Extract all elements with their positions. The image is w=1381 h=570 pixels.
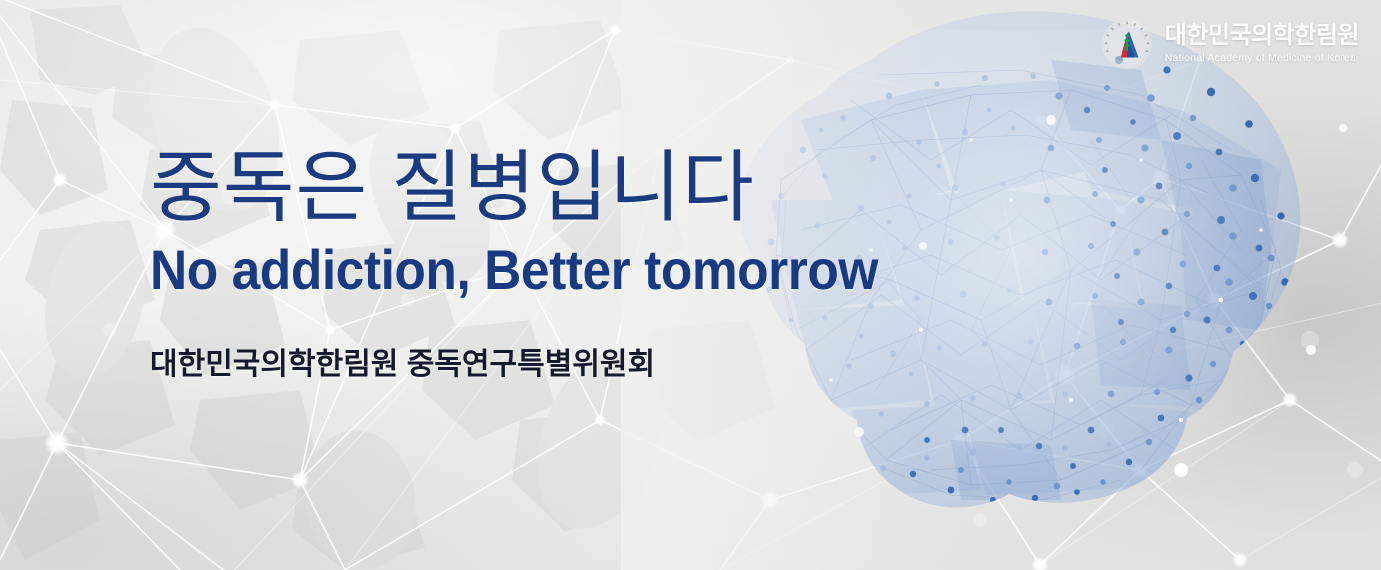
- logo-name-korean: 대한민국의학한림원: [1165, 24, 1359, 48]
- logo-name-english: National Academy of Medicine of Korea: [1165, 53, 1359, 64]
- academy-logo[interactable]: 대한민국의학한림원 National Academy of Medicine o…: [1101, 18, 1359, 70]
- logo-wordmark: 대한민국의학한림원 National Academy of Medicine o…: [1165, 24, 1359, 64]
- headline-korean: 중독은 질병입니다: [150, 148, 950, 226]
- campaign-banner: 중독은 질병입니다 No addiction, Better tomorrow …: [0, 0, 1381, 570]
- academy-seal-emblem-icon: [1101, 18, 1153, 70]
- organization-name: 대한민국의학한림원 중독연구특별위원회: [150, 348, 950, 381]
- headline-block: 중독은 질병입니다 No addiction, Better tomorrow …: [150, 148, 950, 381]
- headline-english: No addiction, Better tomorrow: [150, 242, 886, 298]
